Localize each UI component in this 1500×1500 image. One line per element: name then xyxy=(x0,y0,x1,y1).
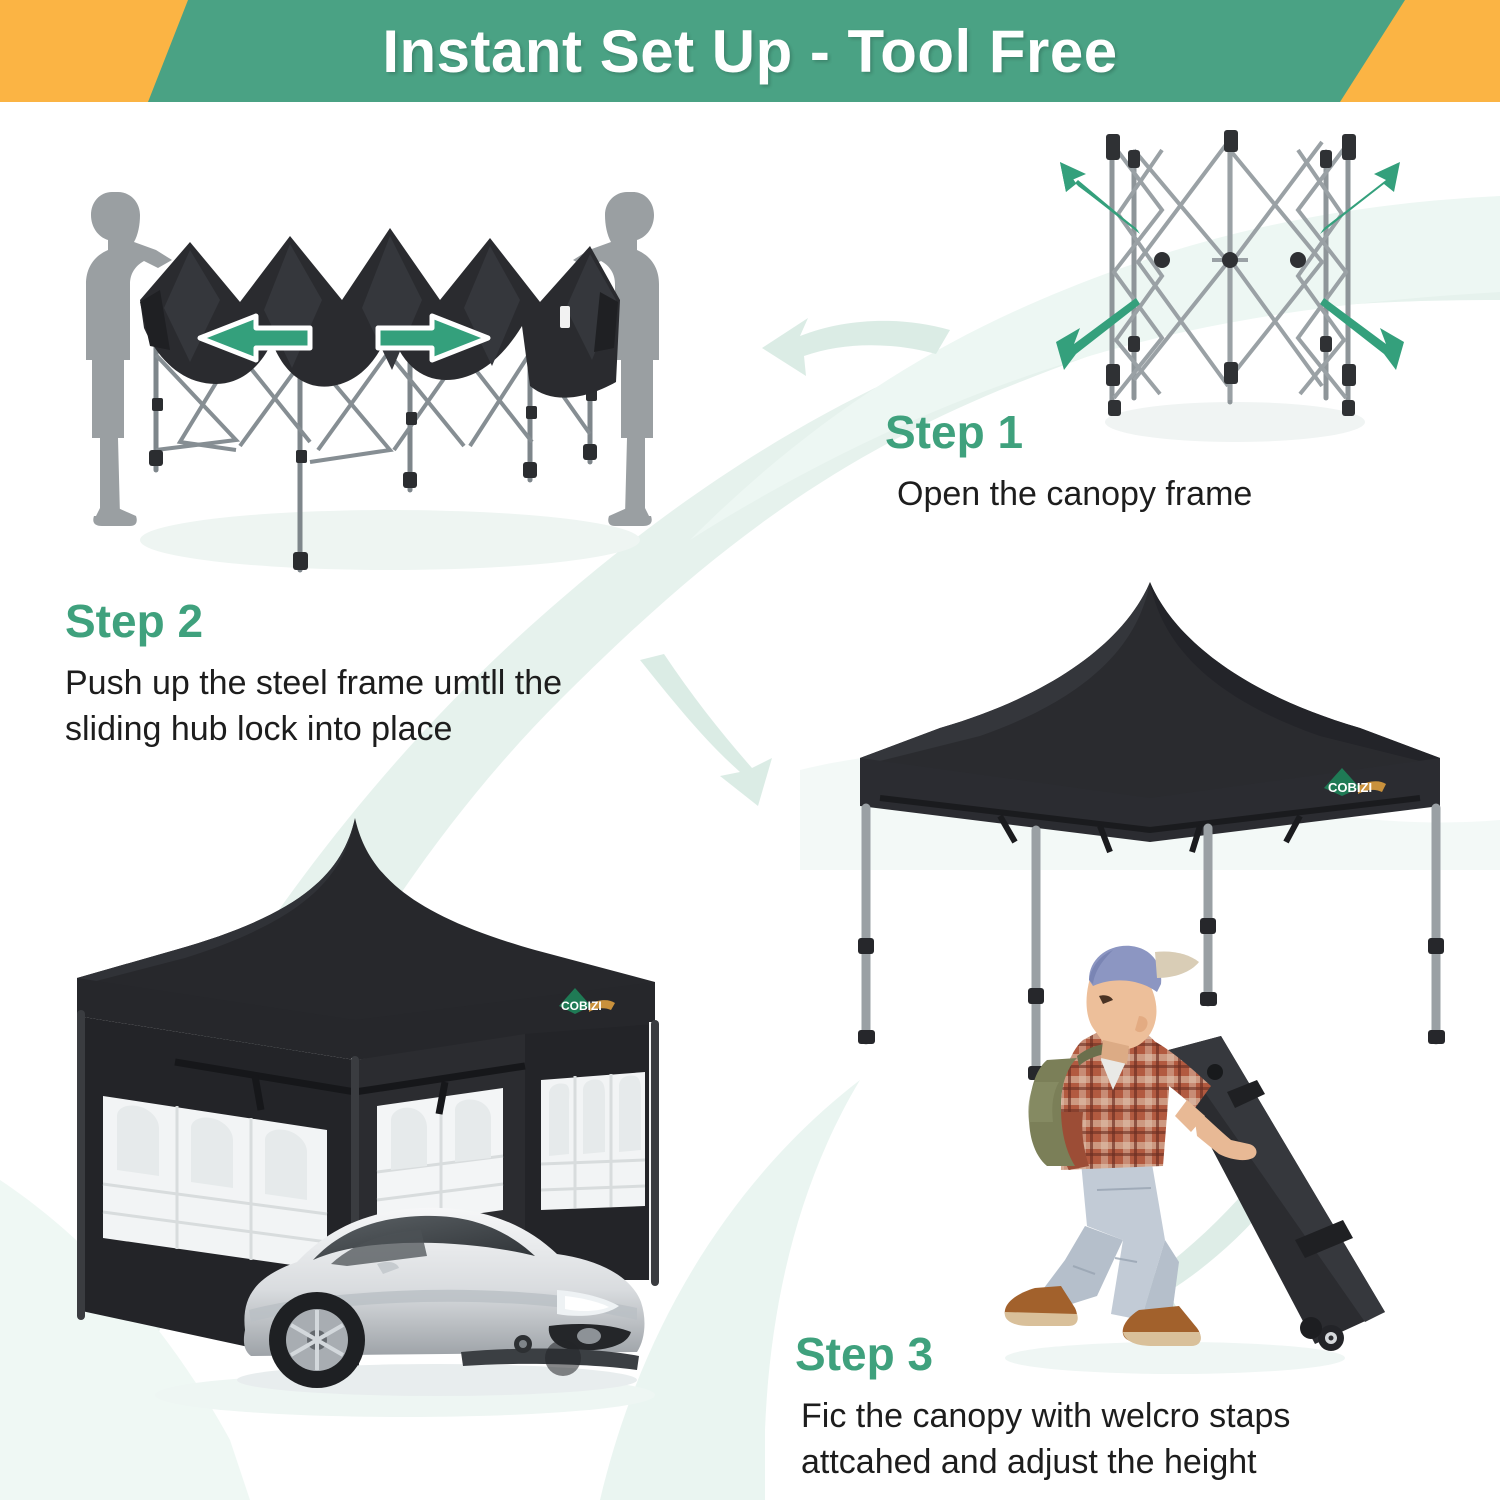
arrow-down-left-icon xyxy=(1056,298,1140,370)
illustration-folded-canopy-two-people xyxy=(60,150,685,575)
infographic-root: Instant Set Up - Tool Free xyxy=(0,0,1500,1500)
sidewall-right xyxy=(525,1022,657,1282)
header-banner: Instant Set Up - Tool Free xyxy=(0,0,1500,102)
illustration-man-with-carry-bag xyxy=(965,940,1415,1390)
arrow-down-right-icon xyxy=(1320,298,1404,370)
step-1-title: Step 1 xyxy=(885,408,1252,456)
svg-text:COBIZI: COBIZI xyxy=(1328,780,1372,795)
folded-canopy-fabric xyxy=(140,228,620,398)
step-1-body: Open the canopy frame xyxy=(885,472,1252,518)
svg-text:COBIZI: COBIZI xyxy=(561,999,602,1013)
car-wheel-front xyxy=(269,1292,365,1388)
step-3-title: Step 3 xyxy=(795,1330,1435,1378)
step-2-block: Step 2 Push up the steel frame umtll the… xyxy=(65,597,685,753)
step-1-block: Step 1 Open the canopy frame xyxy=(885,408,1252,518)
step-3-block: Step 3 Fic the canopy with welcro staps … xyxy=(795,1330,1435,1486)
step-2-body: Push up the steel frame umtll the slidin… xyxy=(65,661,685,753)
illustration-canopy-with-sidewalls-and-car: COBIZI xyxy=(55,810,745,1430)
step-3-body: Fic the canopy with welcro staps attcahe… xyxy=(795,1394,1435,1486)
canopy-roof xyxy=(860,582,1440,802)
illustration-accordion-steel-frame xyxy=(1030,110,1430,455)
step-2-title: Step 2 xyxy=(65,597,685,645)
car-wheel-rear xyxy=(545,1340,581,1376)
frame-scissor-lattice xyxy=(1114,140,1346,400)
page-title: Instant Set Up - Tool Free xyxy=(0,0,1500,102)
